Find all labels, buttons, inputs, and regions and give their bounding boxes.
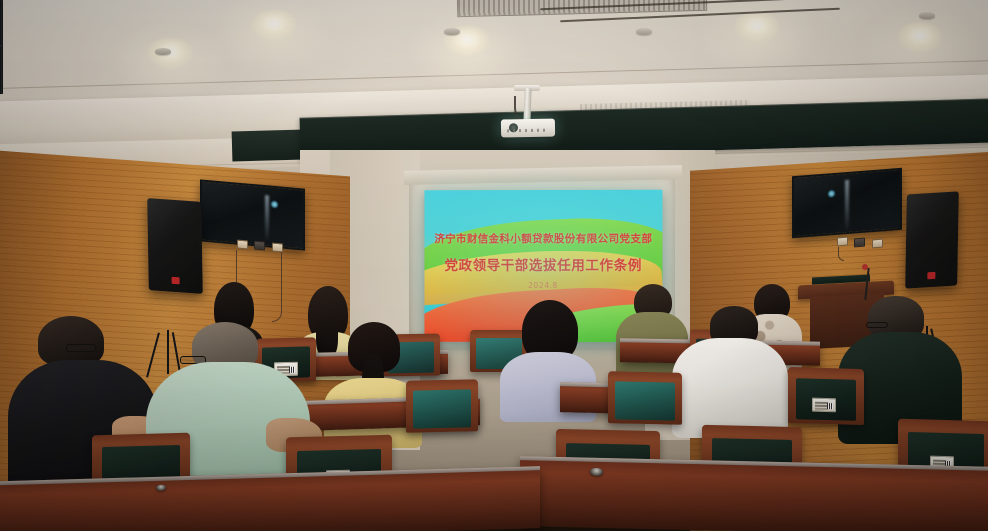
microphone-icon bbox=[862, 264, 868, 270]
wall-display-right bbox=[792, 168, 902, 238]
speaker-stand-pole bbox=[0, 0, 3, 46]
slide-org-title: 济宁市财信金科小额贷款股份有限公司党支部 bbox=[424, 231, 662, 246]
chair bbox=[788, 367, 864, 425]
loudspeaker-right bbox=[905, 191, 959, 288]
display-glare bbox=[265, 195, 269, 241]
conference-room-photo: 济宁市财信金科小额贷款股份有限公司党支部 党政领导干部选拔任用工作条例 2024… bbox=[0, 0, 988, 531]
wall-outlet-plate bbox=[872, 239, 883, 249]
eyeglasses-icon bbox=[866, 322, 888, 328]
chair bbox=[406, 379, 478, 433]
wall-outlet-plate bbox=[854, 238, 865, 248]
smoke-detector-icon bbox=[919, 12, 935, 19]
wall-cable bbox=[838, 247, 844, 261]
smoke-detector-icon bbox=[444, 28, 460, 35]
hair bbox=[38, 316, 104, 366]
display-reflection bbox=[828, 190, 835, 198]
desk-cable-grommet bbox=[156, 485, 166, 491]
ceiling-downlight bbox=[734, 12, 780, 42]
ceiling-downlight bbox=[251, 10, 297, 40]
chair-backrest-pad bbox=[615, 382, 674, 421]
wall-outlet-plate bbox=[272, 243, 283, 253]
smoke-detector-icon bbox=[636, 28, 652, 35]
wall-outlet-plate bbox=[254, 241, 265, 251]
chair bbox=[608, 371, 682, 425]
smoke-detector-icon bbox=[155, 48, 171, 55]
ceiling-projector bbox=[501, 119, 555, 138]
wall-outlet-plate bbox=[237, 240, 248, 250]
display-reflection bbox=[271, 200, 278, 208]
eyeglasses-icon bbox=[66, 344, 96, 352]
ceiling-downlight bbox=[897, 22, 943, 52]
display-glare bbox=[845, 180, 849, 232]
loudspeaker-left bbox=[147, 198, 203, 294]
wall-display-left bbox=[200, 179, 305, 250]
torso bbox=[672, 338, 788, 438]
chair-backrest-pad bbox=[413, 390, 471, 429]
desk-cable-grommet bbox=[590, 468, 603, 476]
wall-cable bbox=[272, 252, 282, 322]
attendee-front-right bbox=[672, 306, 788, 436]
desk-row-1-right bbox=[520, 456, 988, 531]
wall-outlet-plate bbox=[837, 237, 848, 247]
seat-placard bbox=[812, 398, 836, 413]
speaker-stand-pole bbox=[0, 46, 3, 94]
slide-main-title: 党政领导干部选拔任用工作条例 bbox=[424, 254, 662, 274]
projector-lens-icon bbox=[509, 123, 518, 132]
